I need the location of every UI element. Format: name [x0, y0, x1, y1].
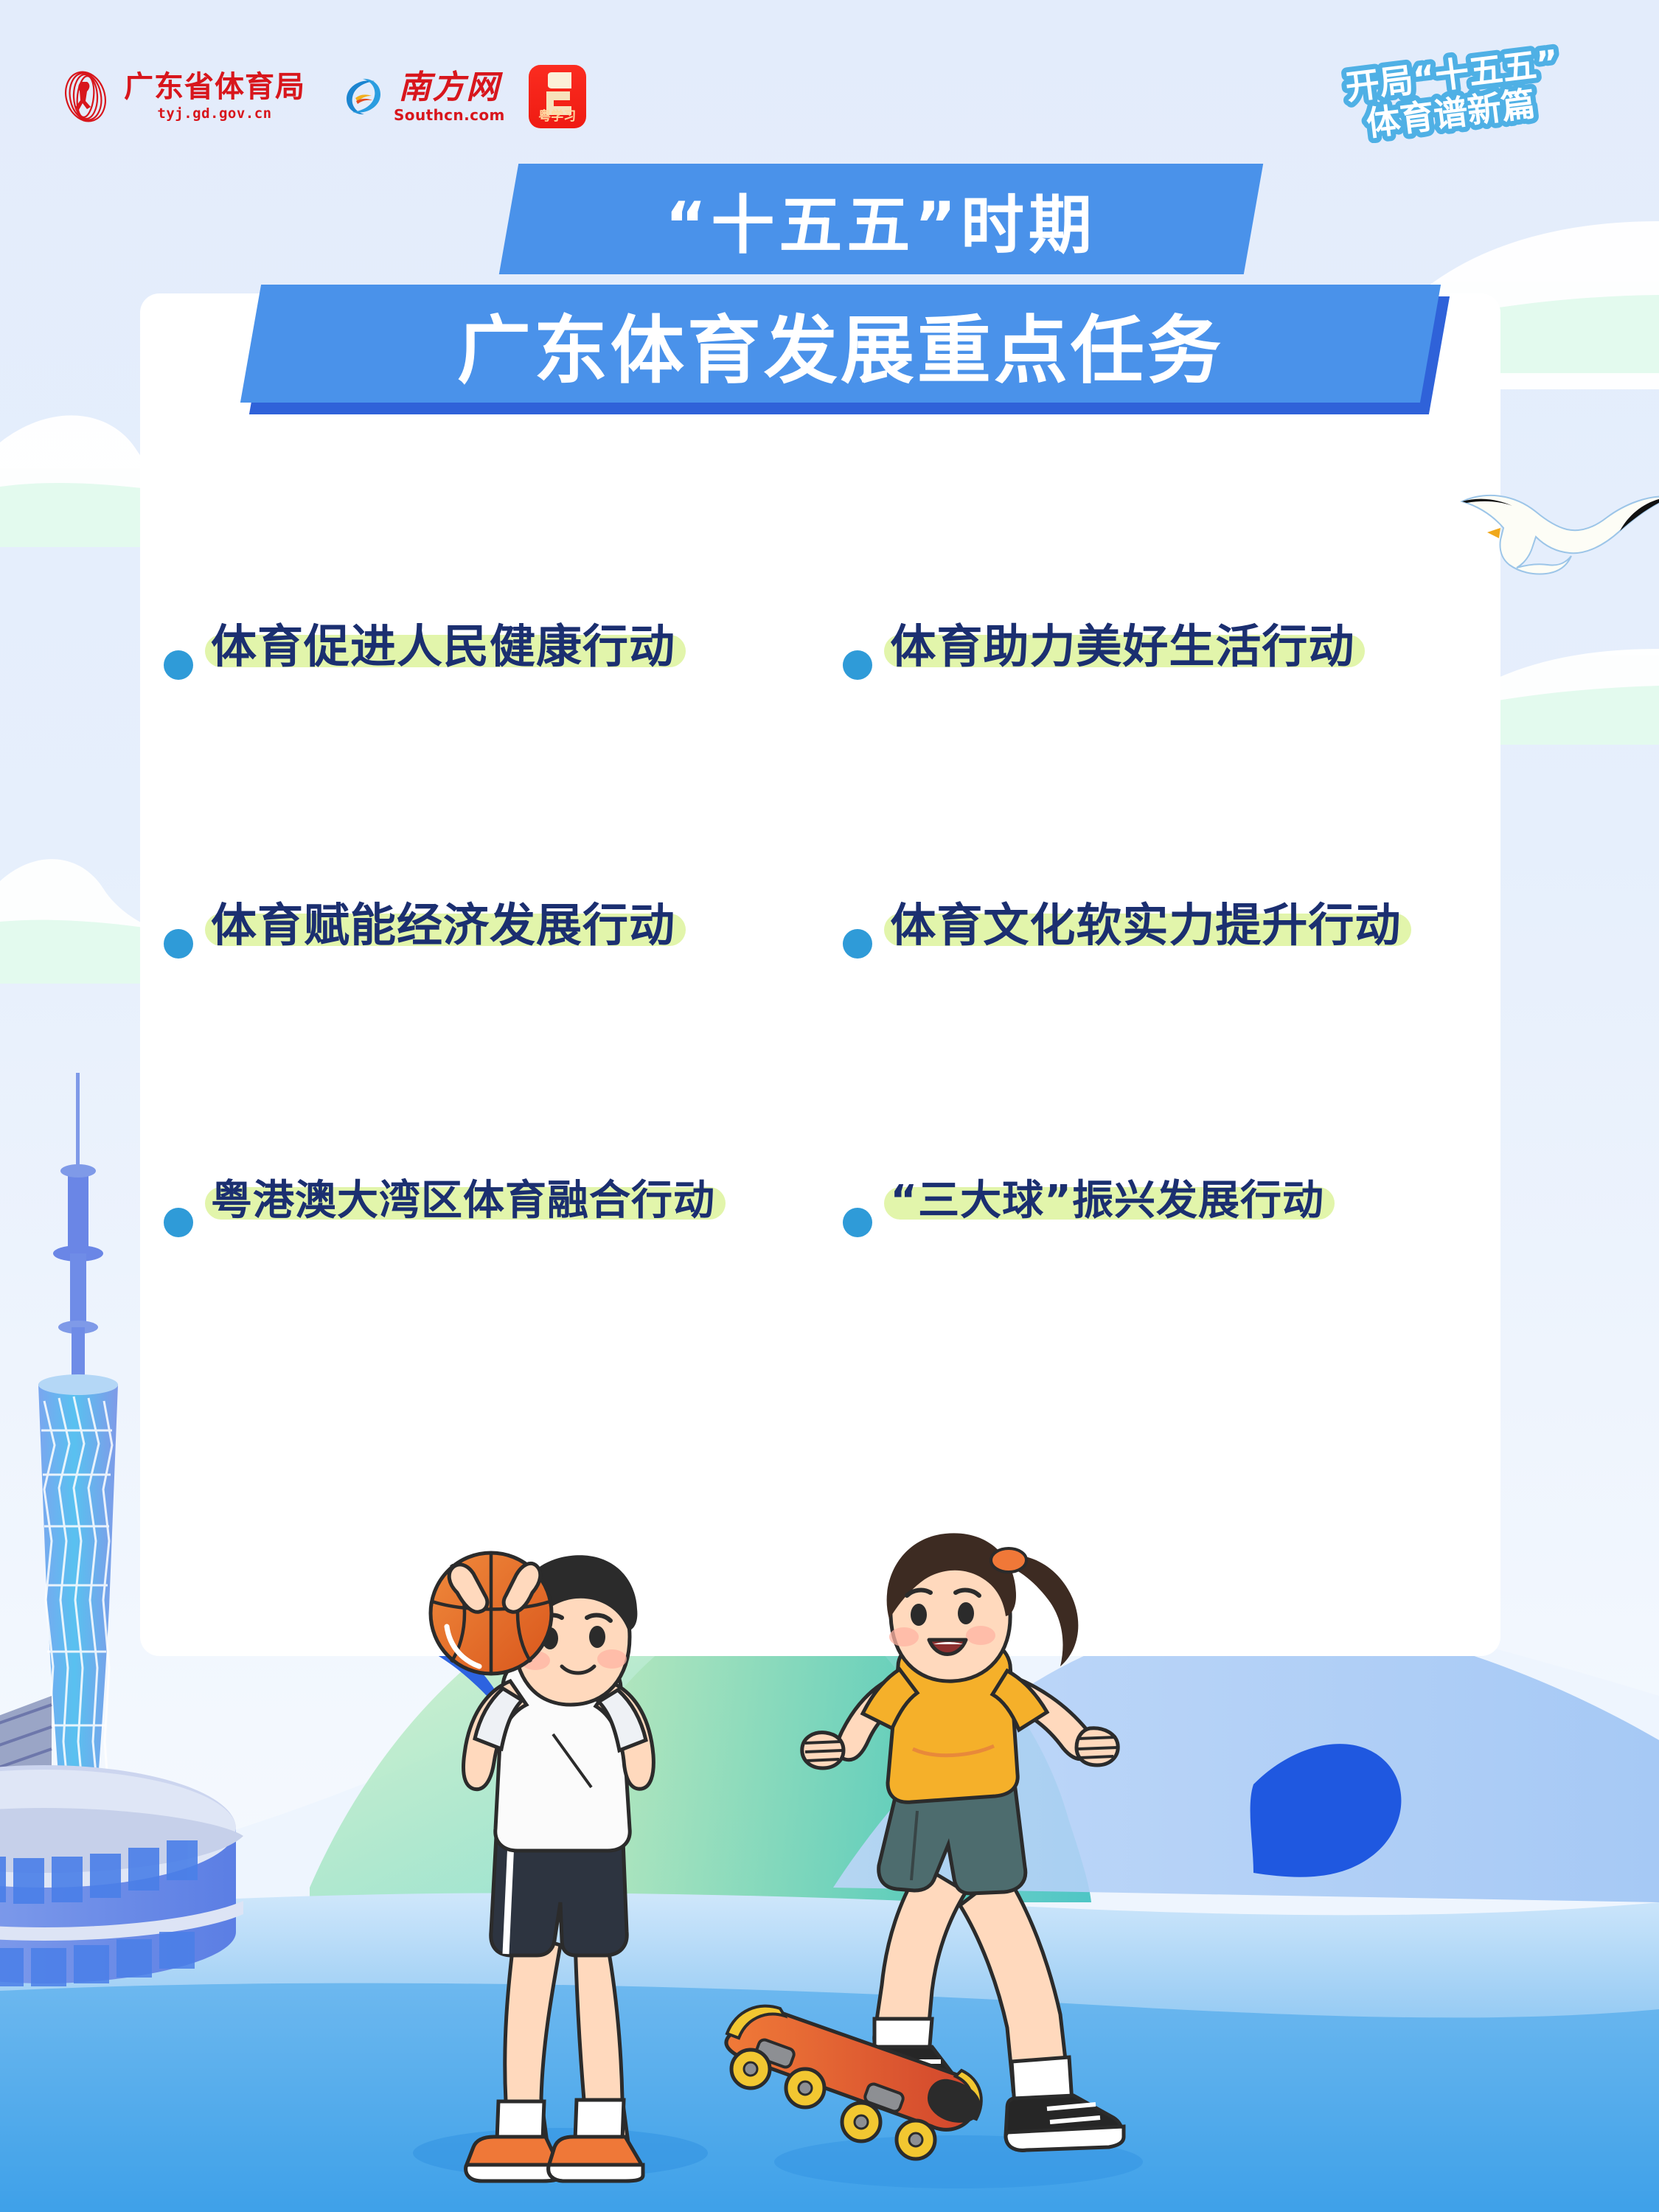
boy-with-basketball-icon: [431, 1553, 653, 2181]
title-line1-text: “十五五”时期: [665, 173, 1096, 265]
poster-stage: 广东省体育局 tyj.gd.gov.cn 南方网 Southcn.com: [0, 0, 1659, 2212]
task-item[interactable]: 粤港澳大湾区体育融合行动: [140, 1177, 843, 1455]
task-label: 粤港澳大湾区体育融合行动: [211, 1177, 715, 1225]
bullet-dot-icon: [843, 650, 872, 680]
task-item[interactable]: “三大球”振兴发展行动: [843, 1177, 1500, 1455]
gd-sports-bureau-seal-icon: [58, 69, 114, 125]
logo-gd-url: tyj.gd.gov.cn: [157, 107, 271, 121]
title-banner-line1: “十五五”时期: [499, 164, 1263, 274]
task-row: 体育促进人民健康行动 体育助力美好生活行动: [140, 619, 1500, 898]
task-label: 体育赋能经济发展行动: [211, 898, 675, 952]
bullet-dot-icon: [164, 1208, 193, 1237]
title-banner-line2: 广东体育发展重点任务: [240, 285, 1441, 403]
campaign-badge: 开局“十五五” 开局“十五五” 体育谱新篇 体育谱新篇: [1330, 25, 1640, 143]
title-banners: “十五五”时期 广东体育发展重点任务: [0, 164, 1659, 451]
kids-illustration: [317, 1519, 1349, 2212]
logo-gd-name: 广东省体育局: [124, 72, 305, 102]
bullet-dot-icon: [843, 1208, 872, 1237]
task-item[interactable]: 体育赋能经济发展行动: [140, 898, 843, 1177]
task-row: 体育赋能经济发展行动 体育文化软实力提升行动: [140, 898, 1500, 1177]
bullet-dot-icon: [164, 650, 193, 680]
task-label: 体育促进人民健康行动: [211, 619, 675, 673]
task-item[interactable]: 体育促进人民健康行动: [140, 619, 843, 898]
logo-gd-sports-bureau[interactable]: 广东省体育局 tyj.gd.gov.cn: [58, 69, 305, 125]
task-row: 粤港澳大湾区体育融合行动 “三大球”振兴发展行动: [140, 1177, 1500, 1455]
stadium-shape: [0, 1765, 243, 1986]
task-list: 体育促进人民健康行动 体育助力美好生活行动 体育赋能经济发展行动: [140, 619, 1500, 1455]
task-item[interactable]: 体育助力美好生活行动: [843, 619, 1500, 898]
bullet-dot-icon: [843, 929, 872, 959]
southcn-swirl-mark-icon: [341, 74, 386, 119]
logo-southcn-url: Southcn.com: [394, 108, 505, 122]
task-label: 体育助力美好生活行动: [890, 619, 1354, 673]
title-line2-text: 广东体育发展重点任务: [457, 291, 1224, 397]
seagull-icon: [1456, 448, 1659, 596]
task-label: 体育文化软实力提升行动: [890, 898, 1401, 952]
bullet-dot-icon: [164, 929, 193, 959]
logo-southcn[interactable]: 南方网 Southcn.com: [341, 72, 505, 122]
task-label: “三大球”振兴发展行动: [890, 1177, 1324, 1225]
logo-yuexuexi-name: 粤学习: [529, 110, 586, 123]
header-logos: 广东省体育局 tyj.gd.gov.cn 南方网 Southcn.com: [58, 65, 586, 128]
logo-yuexuexi[interactable]: 粤学习: [529, 65, 586, 128]
logo-southcn-name: 南方网: [398, 72, 500, 104]
task-item[interactable]: 体育文化软实力提升行动: [843, 898, 1500, 1177]
